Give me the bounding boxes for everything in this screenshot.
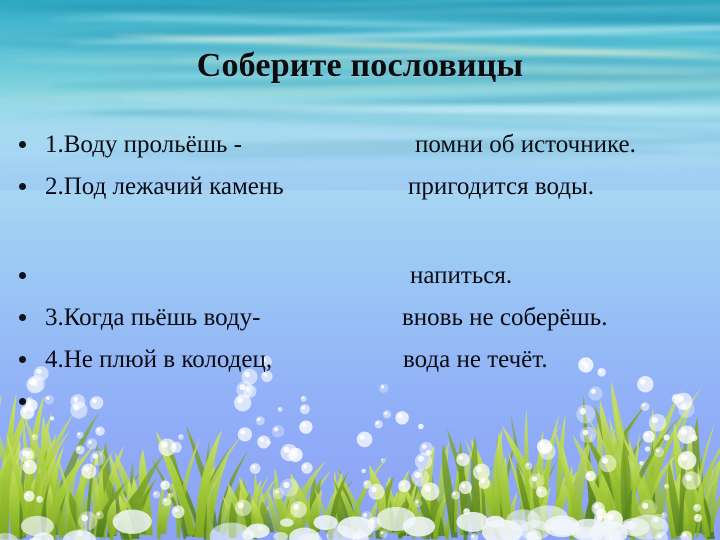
proverb-end: напиться. bbox=[410, 259, 512, 293]
proverb-row bbox=[0, 217, 720, 259]
bullet-icon bbox=[19, 356, 26, 363]
bullet-icon bbox=[19, 183, 26, 190]
bullet-icon bbox=[19, 398, 26, 405]
proverb-end: пригодится воды. bbox=[408, 170, 594, 204]
bullet-icon bbox=[19, 141, 26, 148]
proverb-start: 2.Под лежачий камень bbox=[45, 170, 284, 204]
proverb-start: 1.Воду прольёшь - bbox=[45, 128, 242, 162]
proverb-start: 4.Не плюй в колодец, bbox=[45, 343, 272, 377]
proverb-end: помни об источнике. bbox=[415, 128, 636, 162]
proverb-row: напиться. bbox=[0, 259, 720, 301]
proverb-row bbox=[0, 385, 720, 427]
bullet-icon bbox=[19, 314, 26, 321]
proverb-list: 1.Воду прольёшь -помни об источнике.2.По… bbox=[0, 128, 720, 427]
proverb-row: 4.Не плюй в колодец,вода не течёт. bbox=[0, 343, 720, 385]
proverb-start: 3.Когда пьёшь воду- bbox=[45, 301, 261, 335]
page-title: Соберите пословицы bbox=[0, 47, 720, 85]
proverb-row: 1.Воду прольёшь -помни об источнике. bbox=[0, 128, 720, 170]
proverb-row: 3.Когда пьёшь воду-вновь не соберёшь. bbox=[0, 301, 720, 343]
proverb-end: вода не течёт. bbox=[403, 343, 548, 377]
bullet-icon bbox=[19, 272, 26, 279]
proverb-row: 2.Под лежачий каменьпригодится воды. bbox=[0, 170, 720, 217]
proverb-end: вновь не соберёшь. bbox=[402, 301, 607, 335]
slide-canvas: Соберите пословицы 1.Воду прольёшь -помн… bbox=[0, 0, 720, 540]
